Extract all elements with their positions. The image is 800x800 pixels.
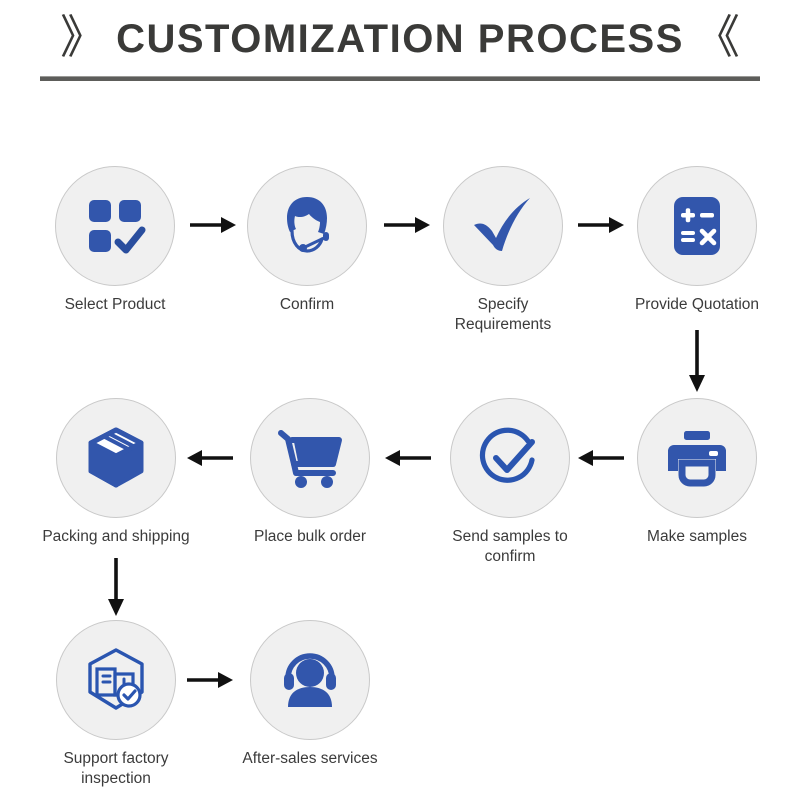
package-box-icon	[81, 423, 151, 493]
connector-arrow-down	[686, 330, 708, 392]
step-label: Specify Requirements	[428, 295, 578, 335]
flow-step-after-sales-services[interactable]: After-sales services	[235, 620, 385, 769]
flow-step-packing-and-shipping[interactable]: Packing and shipping	[41, 398, 191, 547]
step-icon-circle	[637, 166, 757, 286]
flow-step-send-samples-to-confirm[interactable]: Send samples to confirm	[435, 398, 585, 567]
checkmark-icon	[466, 189, 540, 263]
headset-agent-icon	[272, 191, 342, 261]
step-label: Send samples to confirm	[435, 527, 585, 567]
connector-arrow-right	[578, 214, 624, 236]
flow-step-place-bulk-order[interactable]: Place bulk order	[235, 398, 385, 547]
shopping-cart-icon	[275, 423, 345, 493]
chevron-right-decoration: 《	[694, 14, 740, 60]
step-icon-circle	[55, 166, 175, 286]
step-icon-circle	[637, 398, 757, 518]
page-header: 》 CUSTOMIZATION PROCESS 《	[0, 8, 800, 70]
connector-arrow-down	[105, 558, 127, 616]
step-label: After-sales services	[235, 749, 385, 769]
step-label: Support factory inspection	[41, 749, 191, 789]
connector-arrow-right	[187, 669, 233, 691]
chevron-left-decoration: 》	[60, 14, 106, 60]
flow-step-select-product[interactable]: Select Product	[40, 166, 190, 315]
grid-select-icon	[81, 192, 149, 260]
support-person-icon	[275, 645, 345, 715]
page-title: CUSTOMIZATION PROCESS	[116, 17, 684, 62]
step-icon-circle	[247, 166, 367, 286]
connector-arrow-left	[578, 447, 624, 469]
step-label: Confirm	[232, 295, 382, 315]
flow-step-specify-requirements[interactable]: Specify Requirements	[428, 166, 578, 335]
connector-arrow-right	[190, 214, 236, 236]
step-icon-circle	[450, 398, 570, 518]
check-circle-icon	[474, 422, 546, 494]
step-label: Provide Quotation	[622, 295, 772, 315]
flow-step-support-factory-inspection[interactable]: Support factory inspection	[41, 620, 191, 789]
step-icon-circle	[250, 398, 370, 518]
step-label: Make samples	[622, 527, 772, 547]
step-label: Place bulk order	[235, 527, 385, 547]
calculator-icon	[664, 193, 730, 259]
step-label: Packing and shipping	[41, 527, 191, 547]
header-divider	[40, 76, 760, 81]
step-icon-circle	[56, 398, 176, 518]
connector-arrow-left	[187, 447, 233, 469]
step-icon-circle	[56, 620, 176, 740]
step-icon-circle	[250, 620, 370, 740]
factory-verified-icon	[81, 645, 151, 715]
flow-step-make-samples[interactable]: Make samples	[622, 398, 772, 547]
connector-arrow-right	[384, 214, 430, 236]
flow-step-provide-quotation[interactable]: Provide Quotation	[622, 166, 772, 315]
printer-icon	[664, 425, 730, 491]
flow-step-confirm[interactable]: Confirm	[232, 166, 382, 315]
step-icon-circle	[443, 166, 563, 286]
step-label: Select Product	[40, 295, 190, 315]
connector-arrow-left	[385, 447, 431, 469]
